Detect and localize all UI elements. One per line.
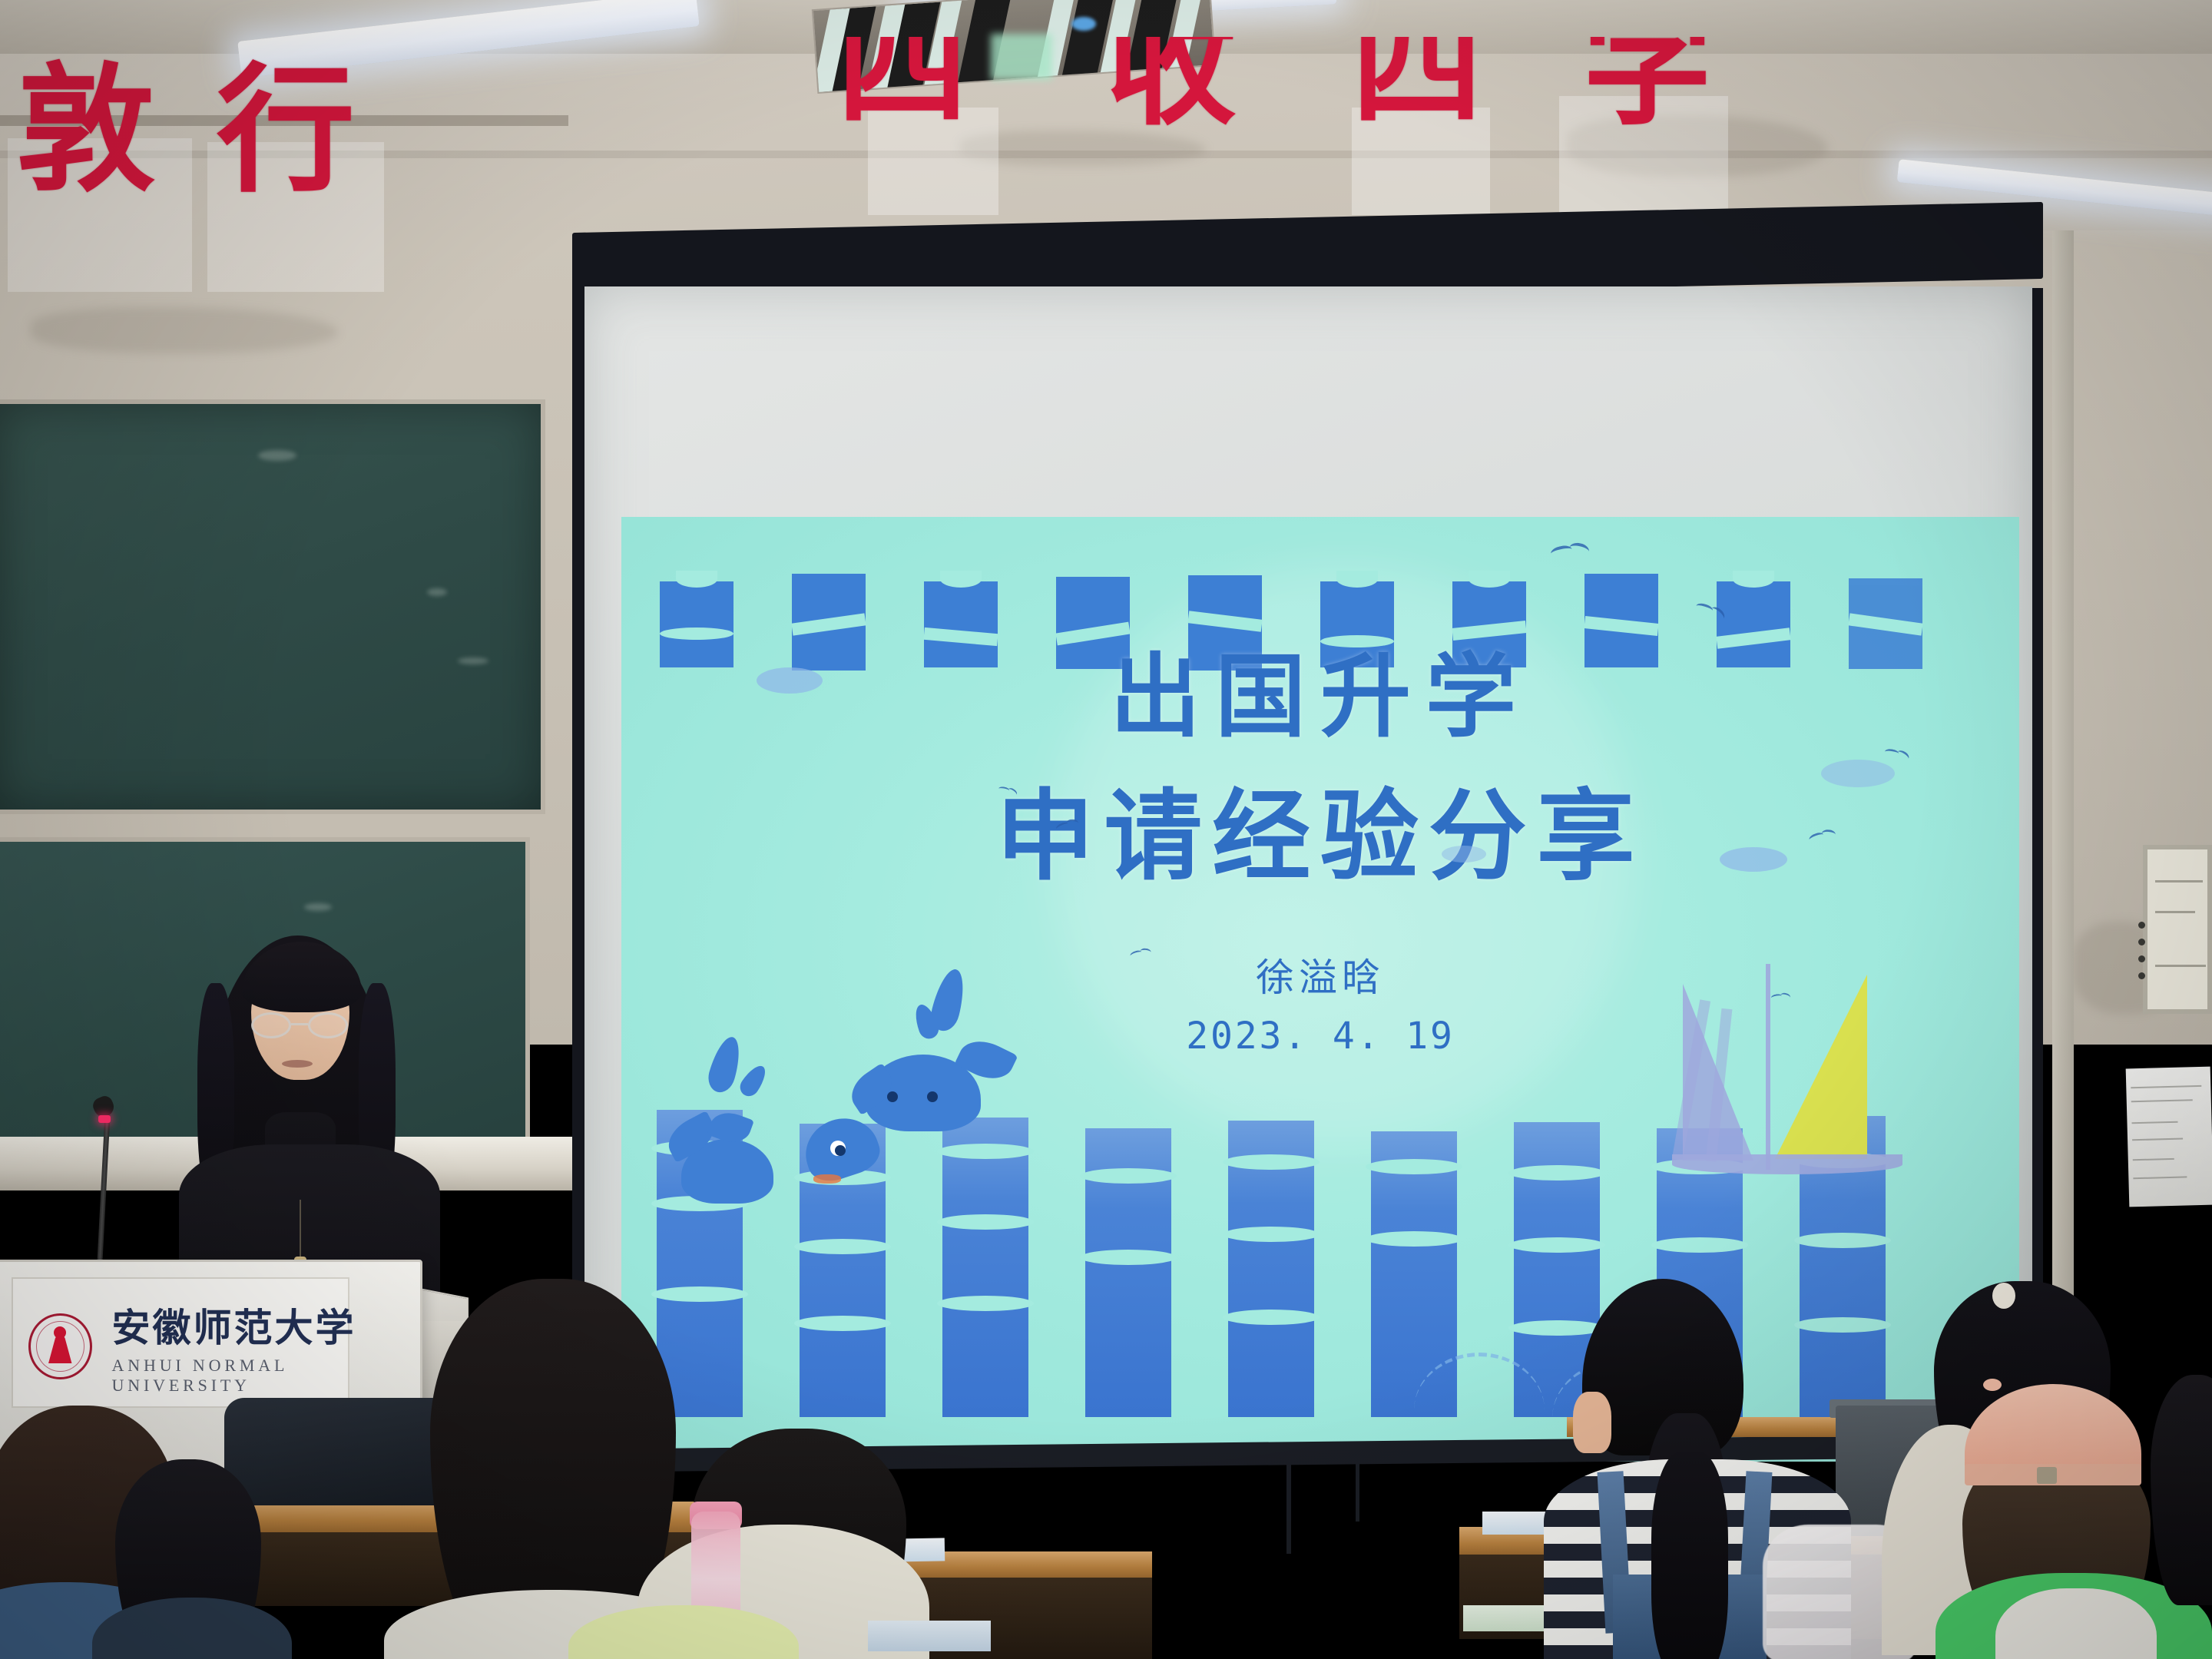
wall-calligraphy-char: 敦 [17, 61, 155, 200]
screen-pull-cord[interactable] [1356, 1460, 1359, 1522]
bird-icon [1695, 602, 1714, 615]
student-hand [1573, 1392, 1611, 1453]
cloud-blob [757, 667, 823, 694]
slide-title-line-1: 出国升学 [621, 623, 2019, 754]
university-name-cn: 安徽师范大学 [112, 1297, 420, 1353]
university-name-en: ANHUI NORMAL UNIVERSITY [112, 1356, 420, 1396]
door-frame [2052, 230, 2074, 1382]
slide-canvas: 出国升学 申请经验分享 徐溢晗 2023. 4. 19 [621, 517, 2019, 1462]
blackboard-upper [0, 399, 545, 814]
screen-right-edge [2031, 288, 2043, 1455]
slide-bottom-bar [1228, 1121, 1314, 1417]
screen-surface: 出国升学 申请经验分享 徐溢晗 2023. 4. 19 [584, 286, 2032, 1458]
slide-bottom-bar [942, 1118, 1028, 1417]
calligraphy-clip: 四 [837, 37, 1083, 133]
wall-calligraphy-char: 收 [1106, 37, 1237, 132]
cloud-blob [1720, 847, 1787, 872]
calligraphy-clip: 字 [1582, 37, 1828, 133]
screen-pull-cord[interactable] [1286, 1462, 1291, 1554]
book-on-desk [868, 1621, 991, 1651]
cap-button-icon [1983, 1379, 2002, 1391]
lecture-hall-photo: 敦 行 四 收 四 字 [0, 0, 2212, 1659]
university-branding: 安徽师范大学 ANHUI NORMAL UNIVERSITY [28, 1297, 420, 1396]
presenter [165, 914, 488, 1313]
wall-calligraphy-char: 字 [1582, 37, 1713, 132]
notice-fastener-icon [2138, 972, 2145, 979]
projection-screen: 出国升学 申请经验分享 徐溢晗 2023. 4. 19 [572, 196, 2043, 1471]
backpack [224, 1398, 455, 1505]
university-seal-icon [28, 1313, 92, 1379]
notice-fastener-icon [2138, 922, 2145, 929]
cap-buckle-icon [2037, 1467, 2057, 1484]
slide-title-line-2: 申请经验分享 [621, 757, 2019, 899]
cloud-blob [1821, 760, 1895, 787]
wall-calligraphy-char: 行 [217, 61, 355, 200]
slide-bottom-bar [1085, 1128, 1171, 1417]
projector-indicator-icon [1071, 17, 1096, 31]
bird-icon [1550, 544, 1573, 559]
wall-paper-sheet [2126, 1067, 2212, 1207]
cloud-blob [1442, 846, 1486, 863]
glasses-icon [251, 1012, 348, 1038]
wall-notice-frame [2143, 845, 2212, 1014]
hair-clip-icon [1992, 1283, 2015, 1309]
calligraphy-clip: 四 [1352, 37, 1598, 133]
wall-calligraphy-char: 四 [837, 37, 968, 132]
wall-calligraphy-char: 四 [1352, 37, 1482, 132]
notice-fastener-icon [2138, 939, 2145, 945]
calligraphy-clip: 收 [1106, 37, 1352, 133]
notice-fastener-icon [2138, 955, 2145, 962]
microphone-led-indicator [98, 1115, 111, 1123]
